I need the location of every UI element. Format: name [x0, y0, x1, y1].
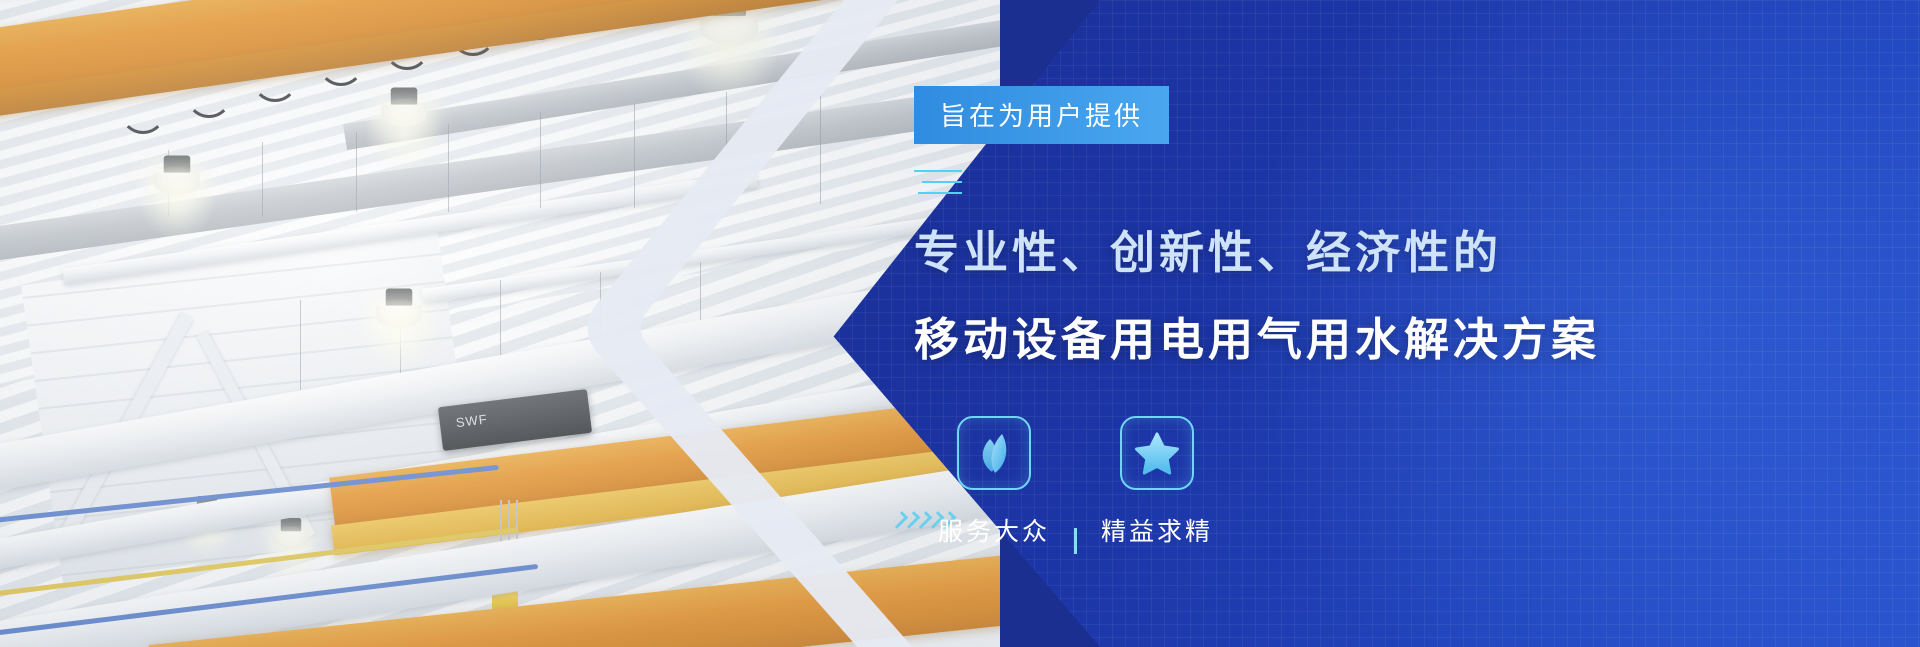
hanging-wire [634, 104, 635, 208]
hanging-wire [300, 300, 301, 390]
leaf-icon-box [957, 416, 1031, 490]
star-icon-box [1120, 416, 1194, 490]
headline-primary: 专业性、创新性、经济性的 [914, 216, 1574, 281]
ceiling-lamp [381, 88, 426, 127]
ceiling-lamp [376, 289, 421, 328]
headline-secondary: 移动设备用电用气用水解决方案 [914, 303, 1574, 368]
feature-label: 服务大众 [938, 512, 1050, 548]
feature-item-service[interactable]: 服务大众 [914, 416, 1074, 548]
three-line-accent [914, 170, 972, 194]
ceiling-lamp [154, 156, 199, 195]
hanging-wire [448, 124, 449, 212]
accent-line [918, 192, 962, 194]
hanging-wire [726, 92, 727, 204]
star-icon [1135, 431, 1179, 475]
lamp-glow [674, 8, 784, 98]
lamp-glow [361, 98, 447, 168]
leaf-icon [972, 431, 1016, 475]
accent-line [914, 170, 962, 172]
ceiling-lamp [274, 518, 309, 548]
feature-label: 精益求精 [1101, 512, 1213, 548]
banner-content: 旨在为用户提供 专业性、创新性、经济性的 移动设备用电用气用水解决方案 [914, 0, 1574, 647]
hanging-wire [820, 84, 821, 204]
hanging-wire [356, 132, 357, 212]
hanging-wire [262, 142, 263, 216]
tagline-badge: 旨在为用户提供 [914, 86, 1169, 144]
hero-banner: SWF 旨在为用户提供 [0, 0, 1920, 647]
crane-brand-label: SWF [455, 411, 488, 430]
feature-list: 服务大众 精益求精 [914, 416, 1574, 554]
accent-line [922, 181, 962, 183]
hanging-wire [540, 112, 541, 208]
lamp-glow [356, 299, 442, 369]
feature-item-excellence[interactable]: 精益求精 [1077, 416, 1237, 548]
lamp-glow [134, 166, 220, 236]
